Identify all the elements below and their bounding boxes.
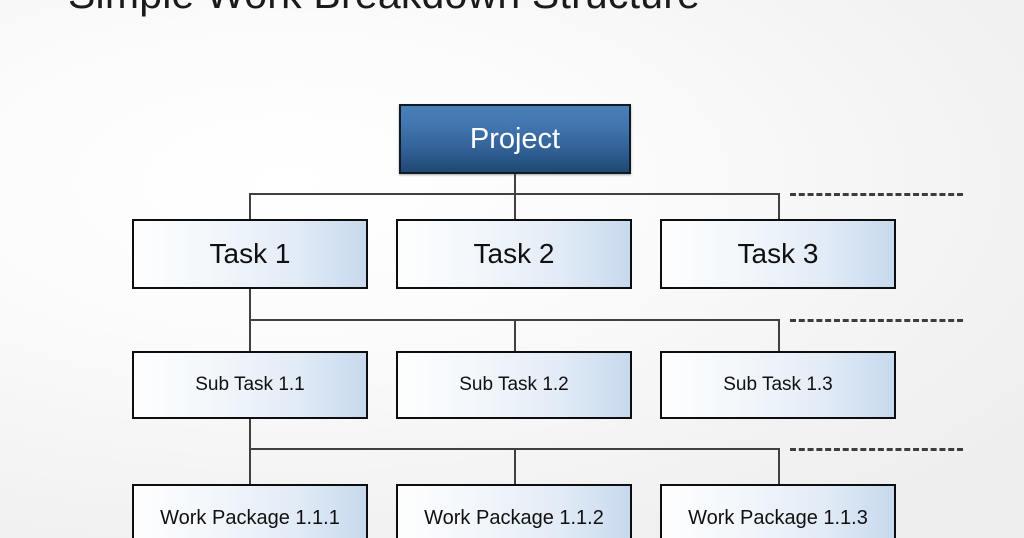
node-workpackage-1-1-3-label: Work Package 1.1.3 <box>688 507 868 530</box>
node-task-1-label: Task 1 <box>210 238 291 270</box>
connector-drop-task-2 <box>514 193 516 219</box>
connector-level1-continuation <box>790 193 963 196</box>
connector-subtask11-stem <box>249 419 251 449</box>
node-subtask-1-2[interactable]: Sub Task 1.2 <box>396 351 632 419</box>
connector-drop-subtask-1-1 <box>249 319 251 351</box>
slide-canvas: Simple Work Breakdown Structure Project … <box>0 0 1024 538</box>
connector-drop-workpackage-1-1-1 <box>249 448 251 484</box>
node-project[interactable]: Project <box>399 104 631 174</box>
node-workpackage-1-1-2-label: Work Package 1.1.2 <box>424 507 604 530</box>
node-subtask-1-3-label: Sub Task 1.3 <box>723 374 833 396</box>
connector-root-stem <box>514 174 516 194</box>
node-workpackage-1-1-2[interactable]: Work Package 1.1.2 <box>396 484 632 538</box>
node-subtask-1-3[interactable]: Sub Task 1.3 <box>660 351 896 419</box>
node-task-1[interactable]: Task 1 <box>132 219 368 289</box>
connector-drop-task-3 <box>778 193 780 219</box>
node-task-3[interactable]: Task 3 <box>660 219 896 289</box>
connector-drop-workpackage-1-1-2 <box>514 448 516 484</box>
connector-drop-workpackage-1-1-3 <box>778 448 780 484</box>
connector-task1-stem <box>249 289 251 320</box>
node-workpackage-1-1-3[interactable]: Work Package 1.1.3 <box>660 484 896 538</box>
node-subtask-1-2-label: Sub Task 1.2 <box>459 374 569 396</box>
node-workpackage-1-1-1[interactable]: Work Package 1.1.1 <box>132 484 368 538</box>
connector-drop-task-1 <box>249 193 251 219</box>
connector-level2-continuation <box>790 319 963 322</box>
node-workpackage-1-1-1-label: Work Package 1.1.1 <box>160 507 340 530</box>
node-task-2[interactable]: Task 2 <box>396 219 632 289</box>
connector-drop-subtask-1-2 <box>514 319 516 351</box>
node-task-3-label: Task 3 <box>738 238 819 270</box>
node-subtask-1-1[interactable]: Sub Task 1.1 <box>132 351 368 419</box>
node-task-2-label: Task 2 <box>474 238 555 270</box>
connector-drop-subtask-1-3 <box>778 319 780 351</box>
connector-level3-continuation <box>790 448 963 451</box>
node-subtask-1-1-label: Sub Task 1.1 <box>195 374 305 396</box>
node-project-label: Project <box>470 123 560 156</box>
page-title: Simple Work Breakdown Structure <box>68 0 968 22</box>
